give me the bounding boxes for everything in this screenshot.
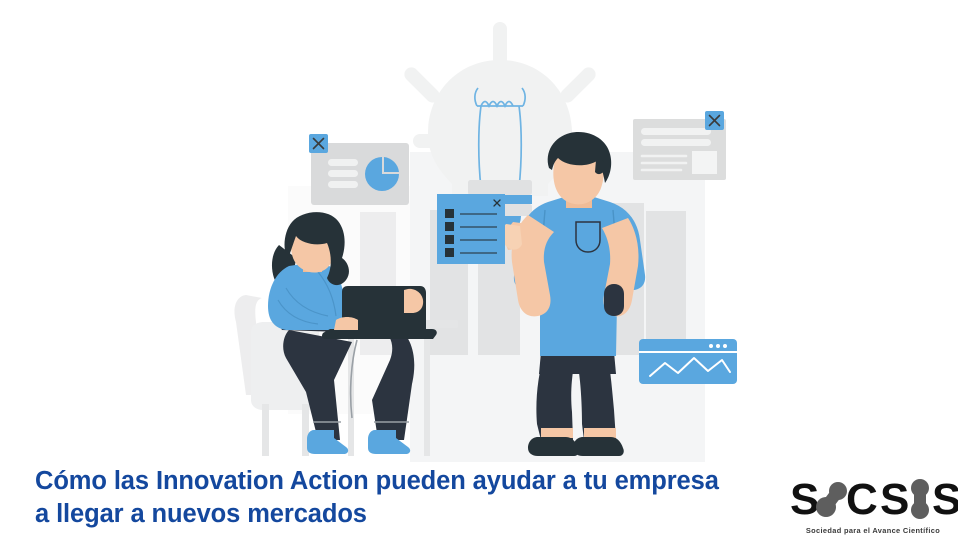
pie-window-close-icon[interactable] [309, 134, 328, 153]
man-ankle-right [584, 428, 616, 438]
chart-window-dots [709, 344, 727, 348]
logo-letter-s3: S [932, 475, 958, 524]
man-shoe-right [573, 437, 624, 456]
bulb-base-top [468, 180, 532, 195]
man-hand-in-pocket [604, 284, 624, 316]
laptop-base [322, 329, 437, 339]
doc-window-image-placeholder [692, 151, 717, 174]
innovation-teamwork-illustration [0, 0, 980, 462]
logo-tagline: Sociedad para el Avance Científico [788, 526, 958, 535]
document-window[interactable] [633, 111, 726, 180]
sacsis-logo-mark: S C S S [788, 474, 958, 524]
logo-molecule-i-icon [911, 479, 929, 519]
checklist-card[interactable] [437, 194, 505, 264]
man-shoe-left [528, 437, 579, 456]
line-chart-window[interactable] [639, 339, 737, 384]
doc-window-close-icon[interactable] [705, 111, 724, 130]
logo-letter-s1: S [790, 475, 818, 524]
pie-window-list-bars [328, 159, 358, 188]
pie-chart-graphic [365, 157, 399, 191]
banner-footer: Cómo las Innovation Action pueden ayudar… [0, 462, 980, 560]
logo-molecule-a-icon [816, 482, 847, 517]
page-title: Cómo las Innovation Action pueden ayudar… [35, 465, 735, 531]
pie-chart-window[interactable] [309, 134, 409, 205]
man-ankle-left [541, 428, 573, 438]
banner-root: Cómo las Innovation Action pueden ayudar… [0, 0, 980, 560]
sacsis-logo[interactable]: S C S S Sociedad para el Ava [788, 474, 958, 544]
illustration-svg [0, 0, 980, 462]
logo-letter-c: C [846, 475, 877, 524]
logo-letter-s2: S [880, 475, 908, 524]
